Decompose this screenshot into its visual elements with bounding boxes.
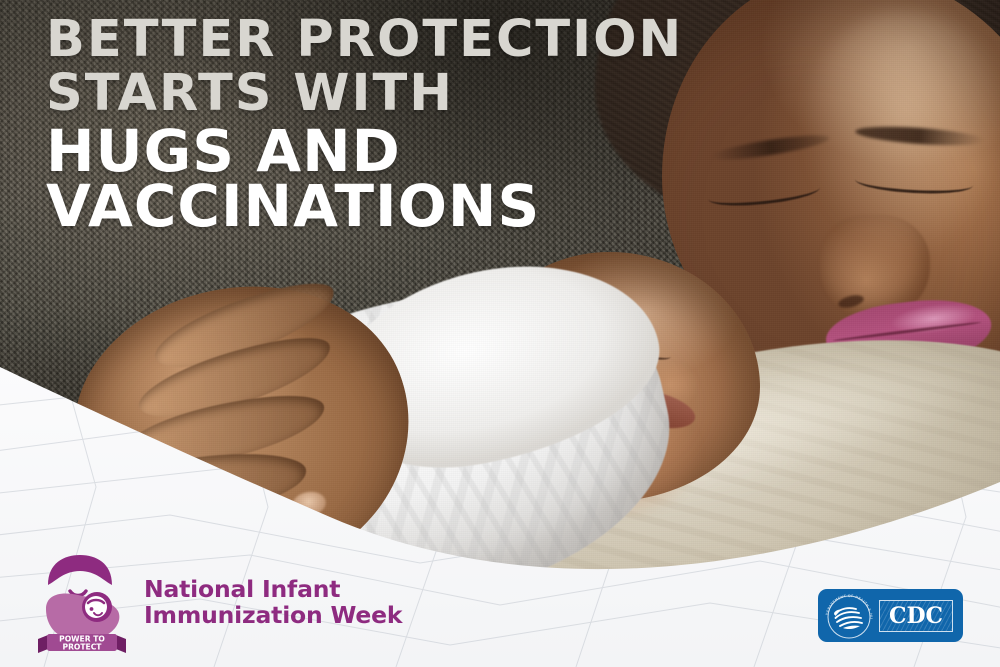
campaign-poster: BETTER PROTECTION STARTS WITH HUGS AND V… bbox=[0, 0, 1000, 667]
cdc-wordmark-box: CDC bbox=[879, 600, 953, 632]
headline-line-3: HUGS AND bbox=[46, 126, 683, 177]
mother-and-child-logo-icon: POWER TO PROTECT bbox=[34, 551, 130, 655]
cdc-logo: DEPARTMENT OF HEALTH & HUMAN SERVICES US… bbox=[818, 589, 963, 642]
ribbon-line-2: PROTECT bbox=[63, 642, 103, 651]
niiw-text-line-2: Immunization Week bbox=[144, 603, 402, 629]
headline-line-4: VACCINATIONS bbox=[46, 181, 683, 232]
niiw-logo-text: National Infant Immunization Week bbox=[144, 577, 402, 629]
headline-line-1: BETTER PROTECTION bbox=[46, 18, 683, 63]
niiw-logo: POWER TO PROTECT National Infant Immuniz… bbox=[34, 551, 402, 655]
headline-block: BETTER PROTECTION STARTS WITH HUGS AND V… bbox=[46, 18, 683, 236]
hhs-department-seal-icon: DEPARTMENT OF HEALTH & HUMAN SERVICES US… bbox=[823, 592, 875, 640]
headline-line-2: STARTS WITH bbox=[46, 72, 683, 117]
svg-text:DEPARTMENT OF HEALTH & HUMAN S: DEPARTMENT OF HEALTH & HUMAN SERVICES US… bbox=[823, 592, 873, 619]
cdc-wordmark: CDC bbox=[889, 605, 943, 627]
niiw-text-line-1: National Infant bbox=[144, 577, 402, 603]
